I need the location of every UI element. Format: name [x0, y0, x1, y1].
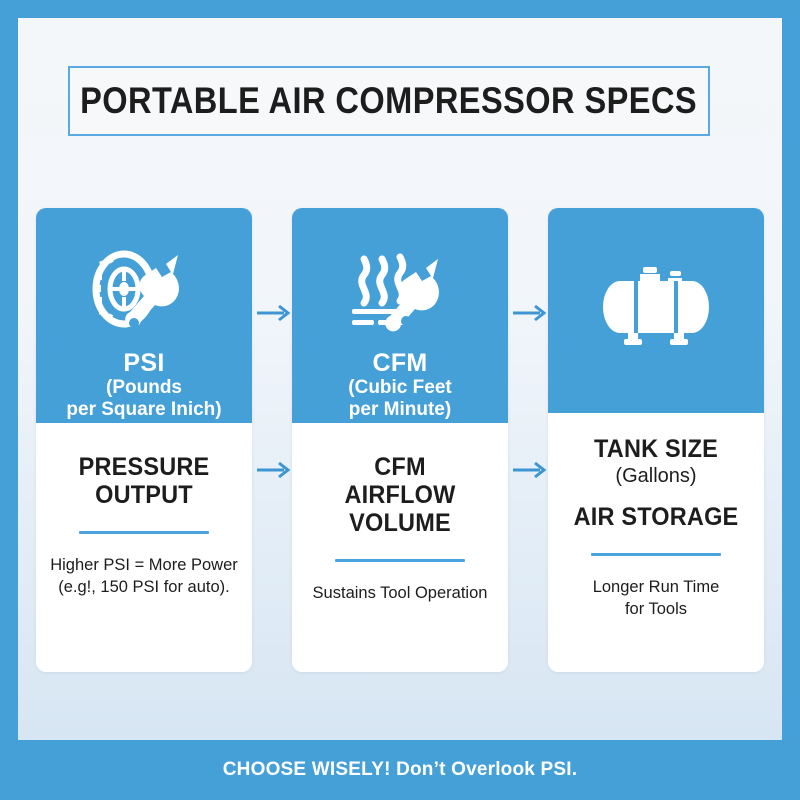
page-title: PORTABLE AIR COMPRESSOR SPECS [81, 80, 698, 122]
card-cfm-divider [335, 559, 465, 562]
card-psi-note-line1: Higher PSI = More Power [50, 554, 238, 576]
card-psi-sub-line1: (Pounds [106, 377, 182, 399]
card-psi-note-line2: (e.g!, 150 PSI for auto). [50, 576, 238, 598]
card-psi-divider [79, 531, 209, 534]
card-psi-body: PRESSURE OUTPUT Higher PSI = More Power … [36, 423, 252, 598]
card-cfm-sub-line1: (Cubic Feet [348, 377, 451, 399]
card-cfm-title-line1: CFM [312, 453, 489, 481]
arrow-right-icon-top-2 [511, 303, 549, 323]
card-cfm-body: CFM AIRFLOW VOLUME Sustains Tool Operati… [292, 423, 508, 604]
card-psi-abbr: PSI [123, 350, 164, 377]
card-tank-divider [591, 553, 721, 556]
arrow-right-icon-top-1 [255, 303, 293, 323]
card-tank-paren: (Gallons) [562, 463, 750, 489]
card-tank-note-line2: for Tools [562, 598, 750, 620]
card-psi-title-line2: OUTPUT [56, 481, 233, 509]
tire-wrench-icon [88, 208, 200, 348]
card-psi-sub-line2: per Square Inich) [66, 399, 221, 421]
footer-text: CHOOSE WISELY! Don’t Overlook PSI. [223, 759, 578, 781]
arrow-right-icon-bottom-1 [255, 460, 293, 480]
infographic-root: PORTABLE AIR COMPRESSOR SPECS [0, 0, 800, 800]
air-tank-icon [596, 208, 716, 364]
footer-banner: CHOOSE WISELY! Don’t Overlook PSI. [0, 740, 800, 800]
card-cfm-title-line2: AIRFLOW VOLUME [312, 481, 489, 537]
card-tank[interactable]: TANK SIZE (Gallons) AIR STORAGE Longer R… [548, 208, 764, 672]
card-tank-body: TANK SIZE (Gallons) AIR STORAGE Longer R… [548, 413, 764, 620]
card-tank-note-line1: Longer Run Time [562, 576, 750, 598]
arrow-right-icon-bottom-2 [511, 460, 549, 480]
card-psi-header: PSI (Pounds per Square Inich) [36, 208, 252, 423]
card-cfm-abbr: CFM [372, 350, 427, 377]
card-cfm-header: CFM (Cubic Feet per Minute) [292, 208, 508, 423]
card-psi-title-line1: PRESSURE [56, 453, 233, 481]
card-tank-title-second: AIR STORAGE [568, 503, 745, 531]
card-tank-header [548, 208, 764, 413]
card-cfm-note-line1: Sustains Tool Operation [306, 582, 494, 604]
airflow-wrench-icon [344, 208, 456, 348]
title-box: PORTABLE AIR COMPRESSOR SPECS [68, 66, 710, 136]
card-psi[interactable]: PSI (Pounds per Square Inich) PRESSURE O… [36, 208, 252, 672]
card-cfm-sub-line2: per Minute) [349, 399, 451, 421]
card-tank-title-line1: TANK SIZE [568, 435, 745, 463]
card-cfm[interactable]: CFM (Cubic Feet per Minute) CFM AIRFLOW … [292, 208, 508, 672]
